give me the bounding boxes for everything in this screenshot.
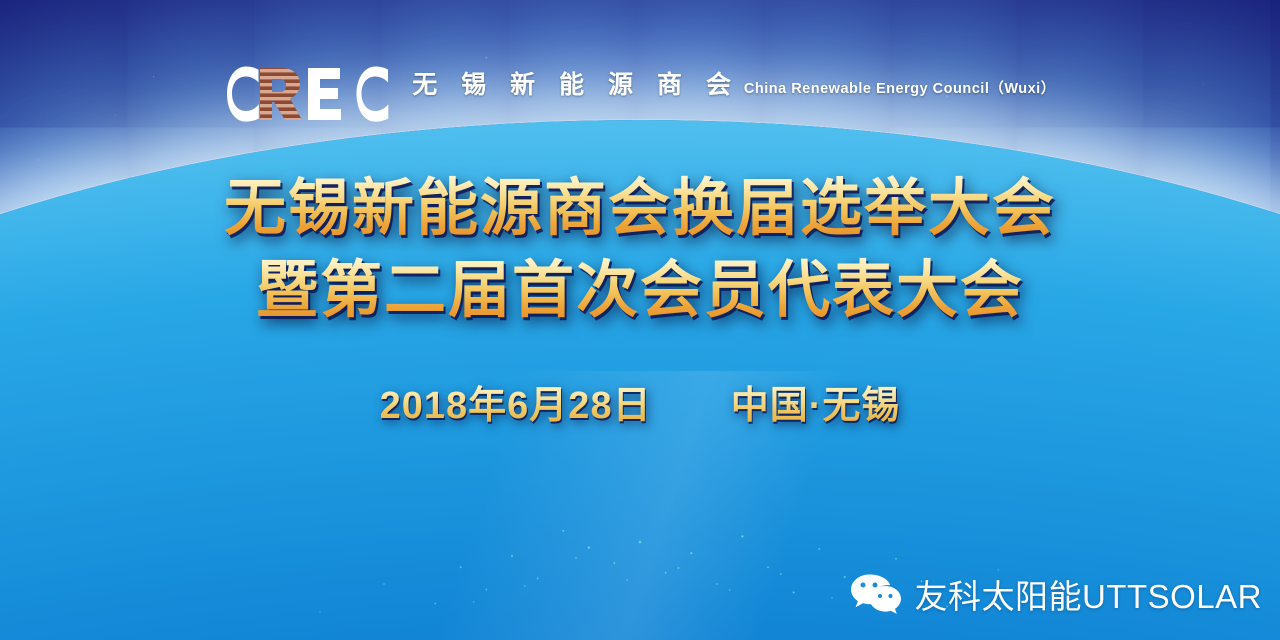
crec-logo-text: 无 锡 新 能 源 商 会 China Renewable Energy Cou… — [412, 66, 1055, 99]
event-dateline: 2018年6月28日 中国·无锡 — [0, 374, 1280, 429]
wechat-icon — [850, 573, 902, 615]
event-title: 无锡新能源商会换届选举大会 暨第二届首次会员代表大会 — [0, 168, 1280, 332]
crec-chinese-name: 无 锡 新 能 源 商 会 — [412, 71, 739, 99]
crec-english-name: China Renewable Energy Council（Wuxi） — [744, 81, 1056, 97]
crec-logo: 无 锡 新 能 源 商 会 China Renewable Energy Cou… — [0, 66, 1280, 122]
event-location: 中国·无锡 — [731, 385, 901, 427]
watermark-label: 友科太阳能UTTSOLAR — [914, 570, 1262, 618]
event-date: 2018年6月28日 — [380, 385, 652, 427]
event-poster: 无 锡 新 能 源 商 会 China Renewable Energy Cou… — [0, 0, 1280, 640]
event-title-line-1: 无锡新能源商会换届选举大会 — [0, 168, 1280, 250]
event-title-line-2: 暨第二届首次会员代表大会 — [0, 250, 1280, 332]
crec-wordmark-icon — [224, 66, 394, 122]
wechat-watermark: 友科太阳能UTTSOLAR — [850, 570, 1262, 618]
